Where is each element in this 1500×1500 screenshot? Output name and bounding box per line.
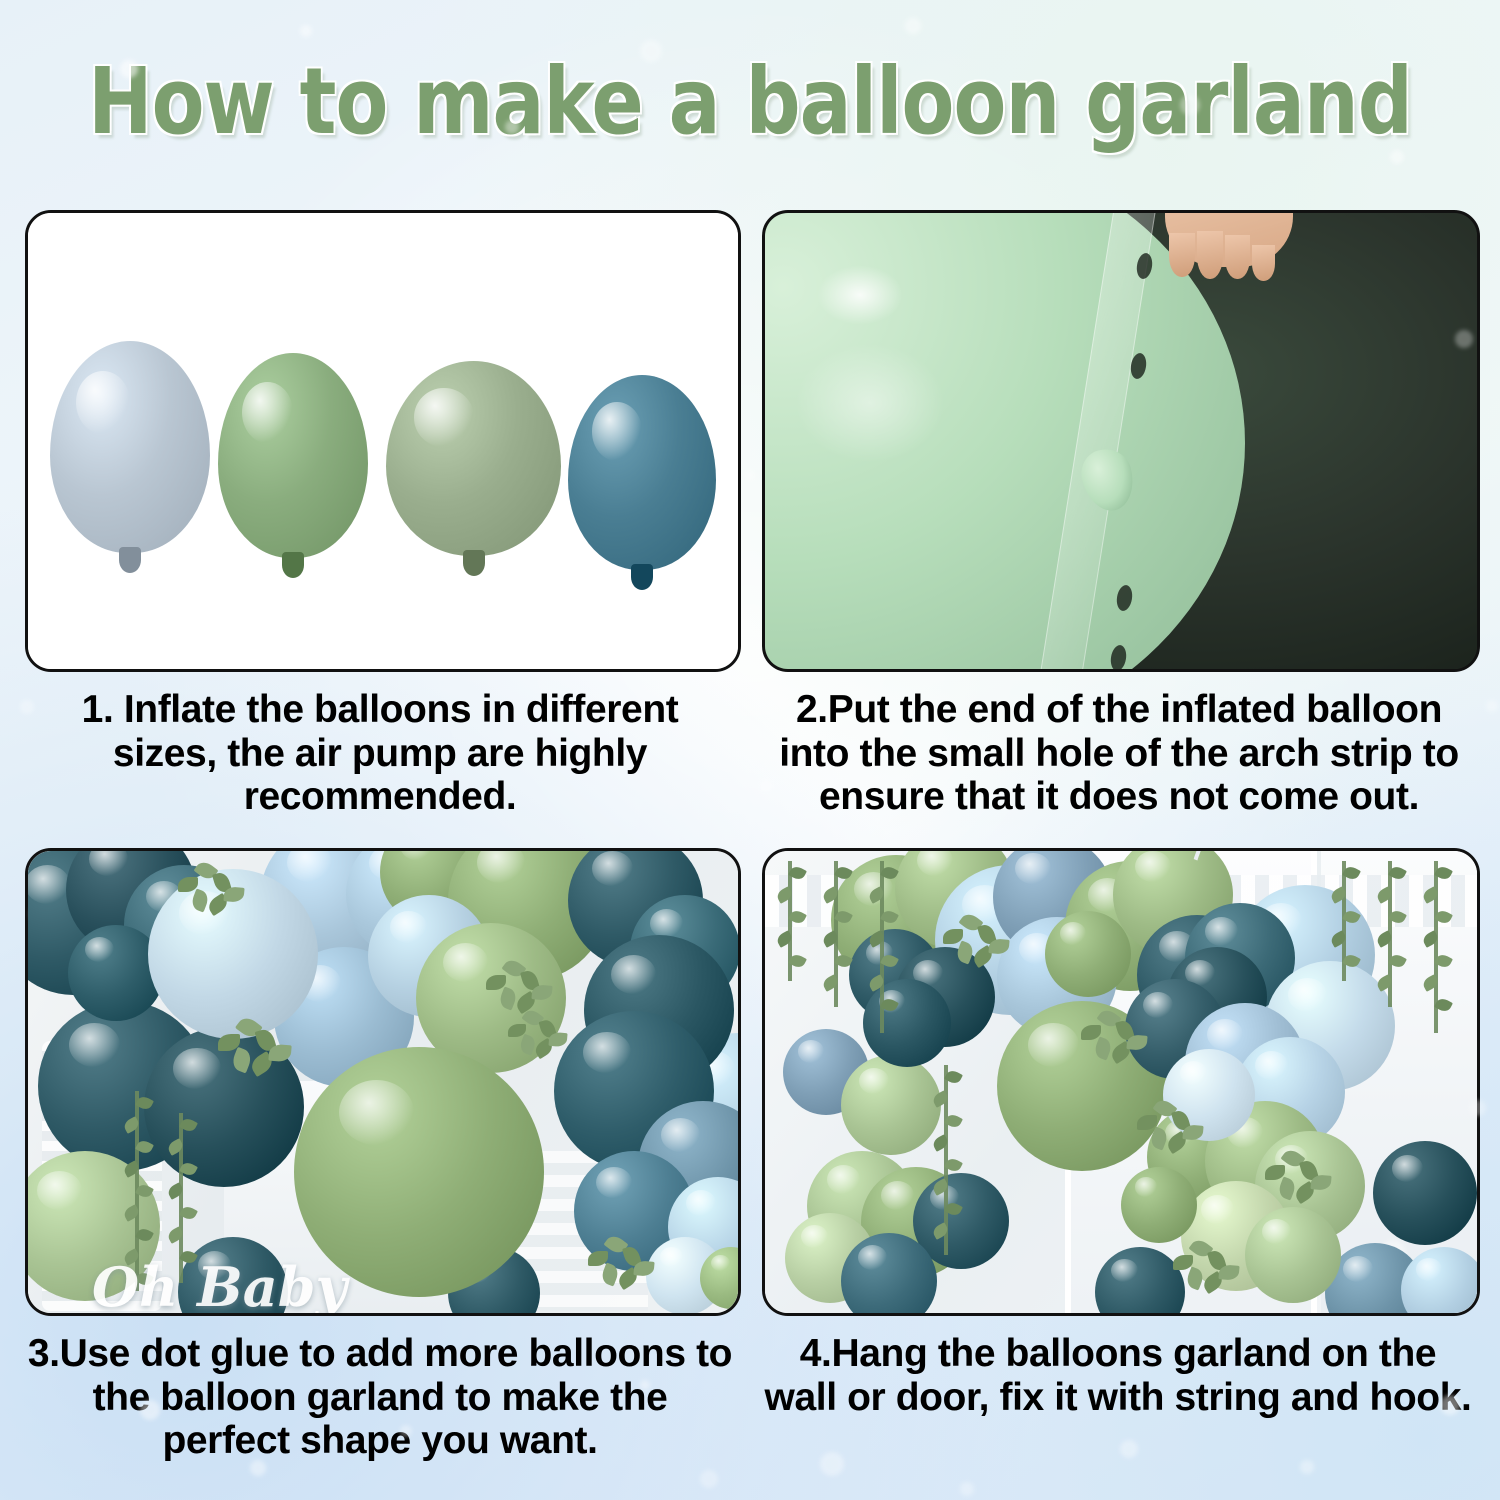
step-3-photo: Oh Baby	[25, 848, 741, 1316]
balloon-gray-sage-knot	[463, 550, 485, 576]
step-3-caption: 3.Use dot glue to add more balloons to t…	[26, 1332, 734, 1463]
infographic-page: How to make a balloon garland Oh Baby Oh…	[0, 0, 1500, 1500]
cornice-vine-0	[777, 861, 803, 981]
garland-leaves-3-leaf-3	[518, 1034, 537, 1056]
garland-leaves-0	[178, 863, 238, 923]
mint-balloon-highlight-2	[795, 343, 945, 463]
garland-vine-0	[124, 1091, 150, 1291]
bokeh-dot-28	[1120, 1440, 1138, 1458]
balloon-gray-sage	[386, 361, 561, 556]
garland-leaves-1	[1081, 1011, 1141, 1071]
garland-balloon-26	[1121, 1167, 1197, 1243]
garland-leaves-2	[1137, 1101, 1197, 1161]
bokeh-dot-4	[905, 18, 921, 34]
balloon-sage-green-knot	[282, 552, 304, 578]
garland-leaves-4-leaf-3	[1184, 1266, 1205, 1290]
step-2-caption: 2.Put the end of the inflated balloon in…	[760, 688, 1478, 819]
balloon-teal-blue	[568, 375, 716, 570]
garland-leaves-4	[588, 1237, 648, 1297]
garland-vine-0	[933, 1065, 959, 1255]
cornice-vine-5	[1423, 861, 1449, 1033]
finger-2	[1225, 235, 1250, 279]
finger-0	[1169, 233, 1195, 277]
finger-1	[1197, 231, 1223, 279]
mint-balloon-highlight-1	[817, 265, 903, 325]
garland-leaves-4-leaf-3	[599, 1262, 620, 1286]
balloon-pale-blue	[50, 341, 210, 553]
garland-leaves-0	[943, 915, 1003, 975]
bokeh-dot-23	[745, 470, 755, 480]
bokeh-dot-16	[700, 1470, 718, 1488]
step-1-photo	[25, 210, 741, 672]
bokeh-dot-26	[820, 1452, 844, 1476]
garland-leaves-2-leaf-3	[497, 986, 518, 1010]
bokeh-dot-20	[1300, 1460, 1314, 1474]
bokeh-dot-1	[300, 25, 312, 37]
bokeh-dot-27	[960, 1482, 974, 1496]
garland-balloon-28	[841, 1055, 941, 1155]
cornice-vine-4	[1377, 861, 1403, 1007]
step-1-caption: 1. Inflate the balloons in different siz…	[30, 688, 730, 819]
garland-balloon-14	[294, 1047, 544, 1297]
garland-leaves-3-leaf-3	[1276, 1176, 1297, 1200]
bokeh-dot-25	[1486, 700, 1498, 712]
garland-leaves-3	[508, 1011, 562, 1065]
garland-vine-1	[168, 1113, 194, 1283]
page-title: How to make a balloon garland	[53, 48, 1448, 155]
step-4-photo: Oh Baby B A	[762, 848, 1480, 1316]
step-2-photo	[762, 210, 1480, 672]
garland-leaves-1-leaf-3	[1092, 1036, 1113, 1060]
step-4-caption: 4.Hang the balloons garland on the wall …	[762, 1332, 1474, 1419]
garland-balloon-25	[1245, 1207, 1341, 1303]
garland-leaves-1	[218, 1019, 284, 1085]
balloon-teal-blue-knot	[631, 564, 653, 590]
garland-leaves-0-leaf-3	[189, 888, 210, 912]
garland-leaves-3	[1265, 1151, 1325, 1211]
garland-leaves-2-leaf-3	[1148, 1126, 1169, 1150]
garland-balloon-34	[1373, 1141, 1477, 1245]
garland-balloon-9	[1045, 911, 1131, 997]
garland-leaves-1-leaf-3	[231, 1047, 254, 1073]
cornice-vine-2	[869, 861, 895, 1033]
finger-3	[1252, 245, 1275, 281]
garland-leaves-4	[1173, 1241, 1233, 1301]
garland-leaves-0-leaf-3	[954, 940, 975, 964]
balloon-sage-green	[218, 353, 368, 558]
cornice-vine-1	[823, 861, 849, 1007]
balloon-pale-blue-knot	[119, 547, 141, 573]
